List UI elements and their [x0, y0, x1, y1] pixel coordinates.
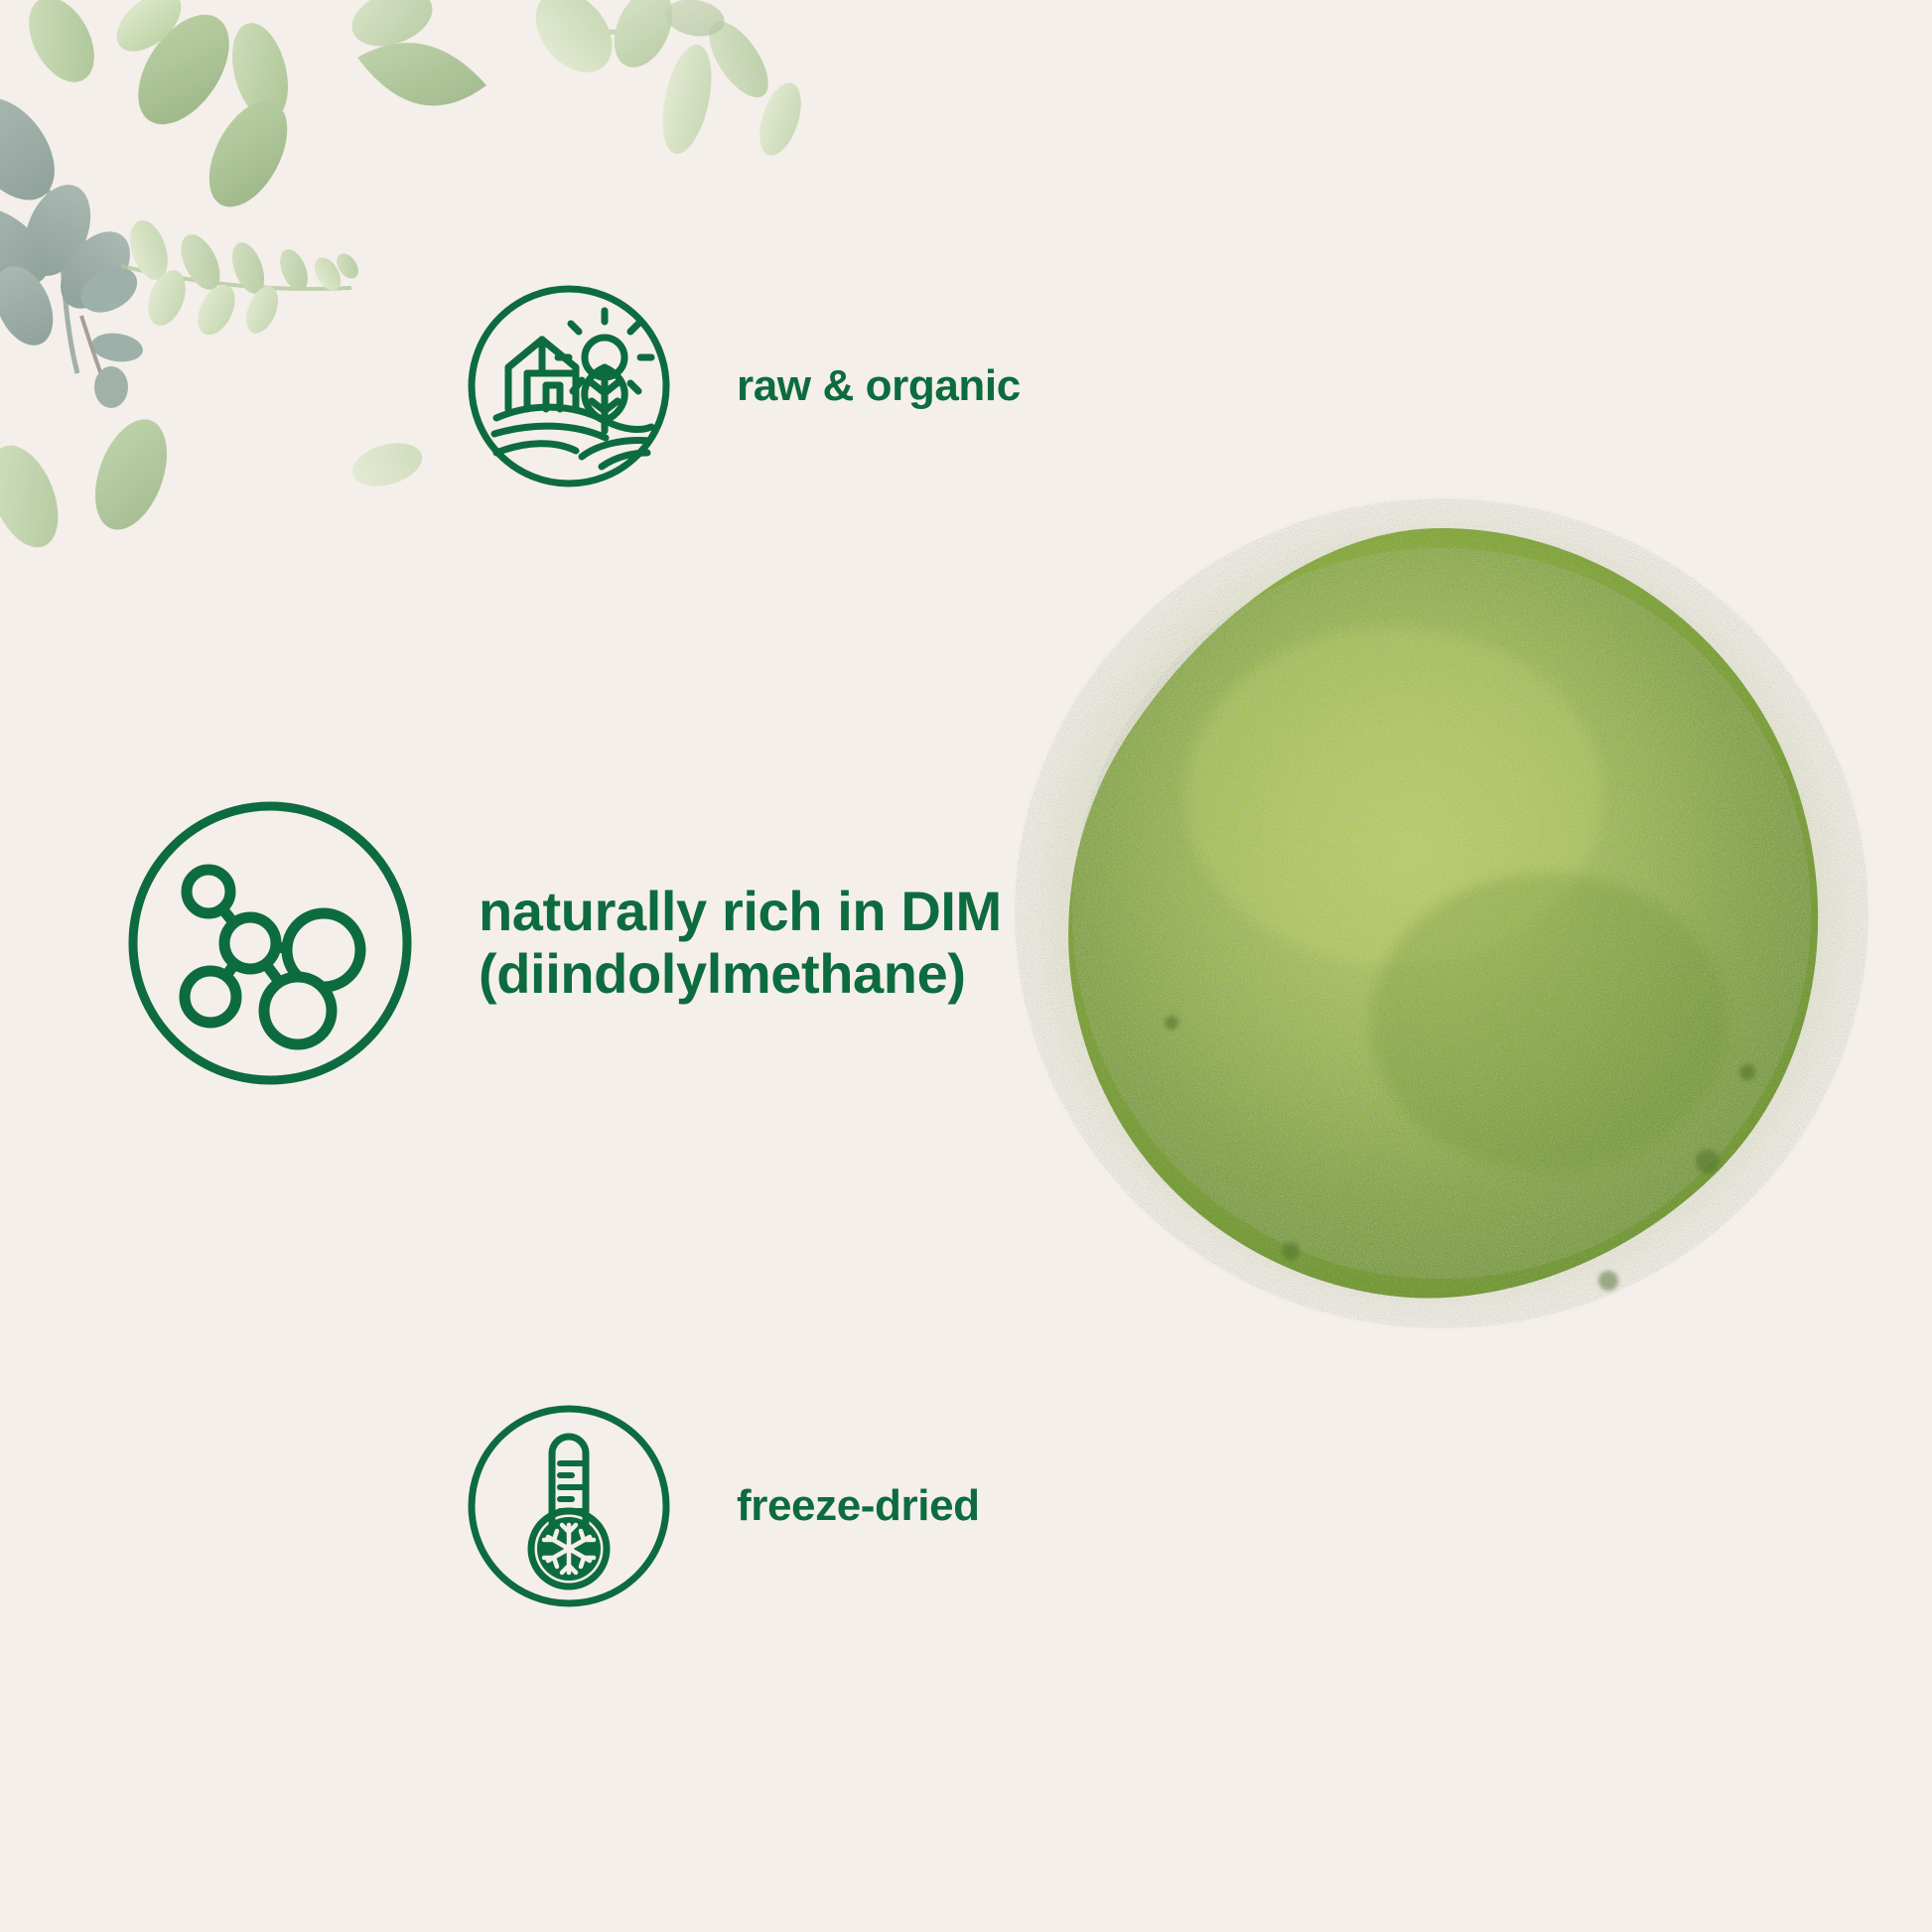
- feature-freeze-dried: freeze-dried: [465, 1402, 980, 1610]
- feature-raw-organic-label: raw & organic: [737, 361, 1021, 410]
- green-powder-mound: [993, 467, 1886, 1360]
- farm-sun-leaf-icon: [465, 282, 673, 490]
- feature-raw-organic: raw & organic: [465, 282, 1021, 490]
- infographic-canvas: raw & organic naturally rich in DIM (dii…: [0, 0, 1932, 1932]
- feature-freeze-dried-label: freeze-dried: [737, 1481, 980, 1530]
- thermometer-snowflake-icon: [465, 1402, 673, 1610]
- feature-rich-in-dim: naturally rich in DIM (diindolylmethane): [121, 794, 1002, 1092]
- molecule-icon: [121, 794, 419, 1092]
- feature-rich-in-dim-label: naturally rich in DIM (diindolylmethane): [479, 881, 1002, 1005]
